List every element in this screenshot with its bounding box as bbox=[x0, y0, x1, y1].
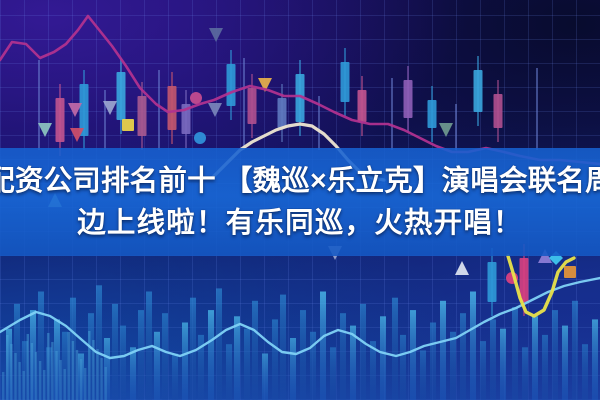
promo-banner: 配资公司排名前十 【魏巡×乐立克】演唱会联名周 边上线啦！有乐同巡，火热开唱！ bbox=[0, 0, 600, 400]
bottom-wash bbox=[0, 300, 600, 400]
headline-line-1: 配资公司排名前十 【魏巡×乐立克】演唱会联名周 bbox=[0, 161, 600, 201]
headline-block: 配资公司排名前十 【魏巡×乐立克】演唱会联名周 边上线啦！有乐同巡，火热开唱！ bbox=[0, 150, 600, 254]
headline-line-2: 边上线啦！有乐同巡，火热开唱！ bbox=[77, 203, 523, 243]
